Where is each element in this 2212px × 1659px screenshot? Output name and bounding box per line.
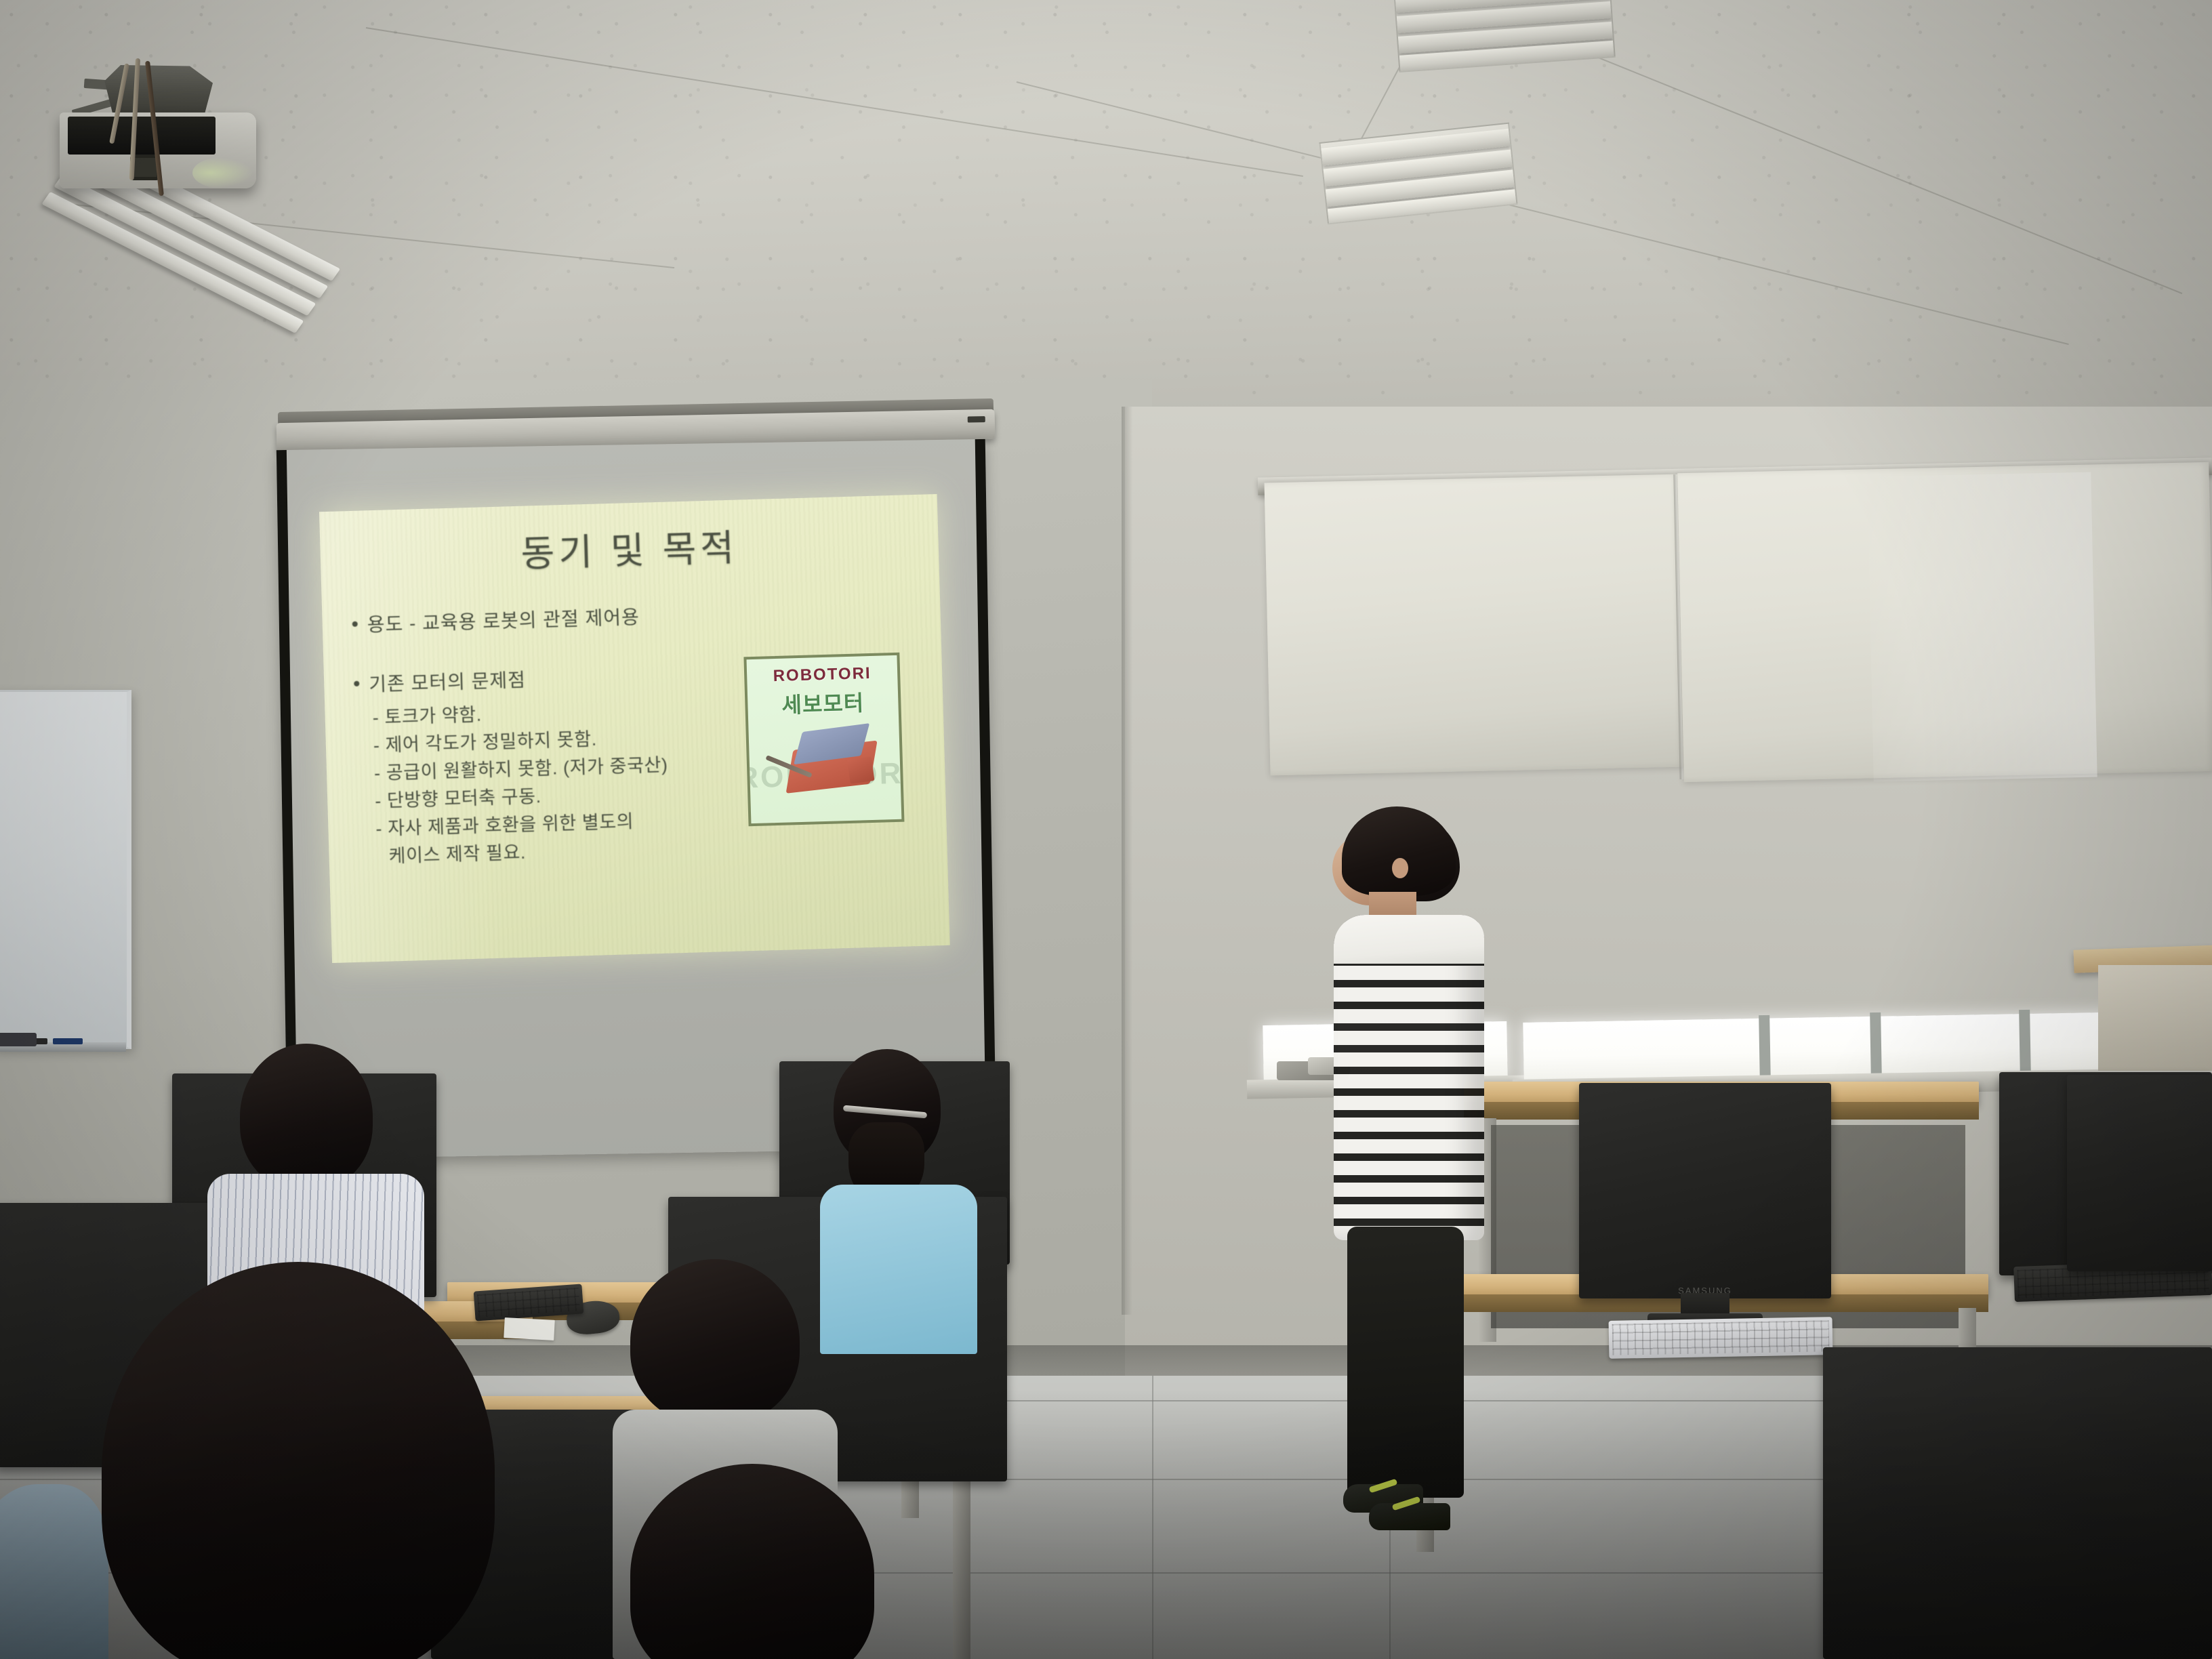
monitor-screen: SAMSUNG bbox=[1579, 1083, 1831, 1298]
window-mullion bbox=[1759, 1015, 1771, 1080]
presenter-shirt-shoulder bbox=[1334, 915, 1484, 964]
wall-corner bbox=[1122, 407, 1132, 1315]
slide-body: 용도 - 교육용 로봇의 관절 제어용 기존 모터의 문제점 - 토크가 약함.… bbox=[352, 602, 739, 872]
monitor-mid-right: SAMSUNG bbox=[1579, 1083, 1831, 1298]
whiteboard-eraser[interactable] bbox=[0, 1033, 37, 1046]
presenter-ear bbox=[1392, 858, 1408, 878]
window-mullion bbox=[1870, 1012, 1882, 1079]
paper-sheet bbox=[504, 1317, 554, 1340]
projector-light-glow bbox=[192, 157, 252, 188]
projected-slide: 동기 및 목적 용도 - 교육용 로봇의 관절 제어용 기존 모터의 문제점 -… bbox=[319, 494, 950, 963]
servo-motor-illustration bbox=[786, 726, 878, 800]
slide-product-image: ROBOTORI ROBOTORI 세보모터 bbox=[743, 653, 904, 827]
student-head bbox=[102, 1262, 495, 1659]
student-head bbox=[240, 1044, 373, 1190]
slide-title: 동기 및 목적 bbox=[320, 512, 939, 583]
slide-bullet-text: 용도 - 교육용 로봇의 관절 제어용 bbox=[367, 605, 640, 638]
slide-bullet: 용도 - 교육용 로봇의 관절 제어용 bbox=[352, 602, 732, 638]
screen-border-right bbox=[975, 439, 996, 1148]
roller-blind-left[interactable] bbox=[1265, 474, 1685, 776]
student-torso bbox=[0, 1484, 108, 1659]
presenter-striped-shirt bbox=[1334, 915, 1484, 1240]
product-brand-label: ROBOTORI bbox=[747, 663, 898, 687]
projector-front-panel bbox=[68, 117, 216, 155]
presenter-hair bbox=[1342, 806, 1456, 896]
whiteboard bbox=[0, 690, 131, 1049]
monitor-front-right bbox=[1823, 1347, 2212, 1659]
monitor-far-right-upper bbox=[2067, 1075, 2212, 1271]
presenter-pants bbox=[1347, 1227, 1464, 1498]
student-head bbox=[630, 1259, 800, 1425]
window-mullion bbox=[2019, 1010, 2031, 1076]
ceiling-projector bbox=[60, 47, 263, 203]
student-torso bbox=[820, 1185, 977, 1354]
keyboard-mid-right[interactable] bbox=[1609, 1317, 1833, 1359]
monitor-screen bbox=[1823, 1347, 2212, 1659]
screen-pull-knob[interactable] bbox=[968, 416, 985, 422]
monitor-stand bbox=[1681, 1293, 1729, 1316]
product-subtitle-label: 세보모터 bbox=[747, 685, 899, 720]
bullet-dot bbox=[352, 621, 358, 627]
presenter bbox=[1327, 806, 1496, 1532]
presenter-shoe-right bbox=[1369, 1503, 1450, 1530]
bullet-dot bbox=[354, 681, 359, 687]
roller-blind-right[interactable] bbox=[1677, 462, 2212, 782]
slide-bullet-text: 기존 모터의 문제점 bbox=[369, 668, 527, 698]
classroom-photo: 동기 및 목적 용도 - 교육용 로봇의 관절 제어용 기존 모터의 문제점 -… bbox=[0, 0, 2212, 1659]
podium-body bbox=[2098, 965, 2212, 1071]
monitor-screen bbox=[2067, 1075, 2212, 1271]
whiteboard-marker[interactable] bbox=[53, 1038, 83, 1044]
